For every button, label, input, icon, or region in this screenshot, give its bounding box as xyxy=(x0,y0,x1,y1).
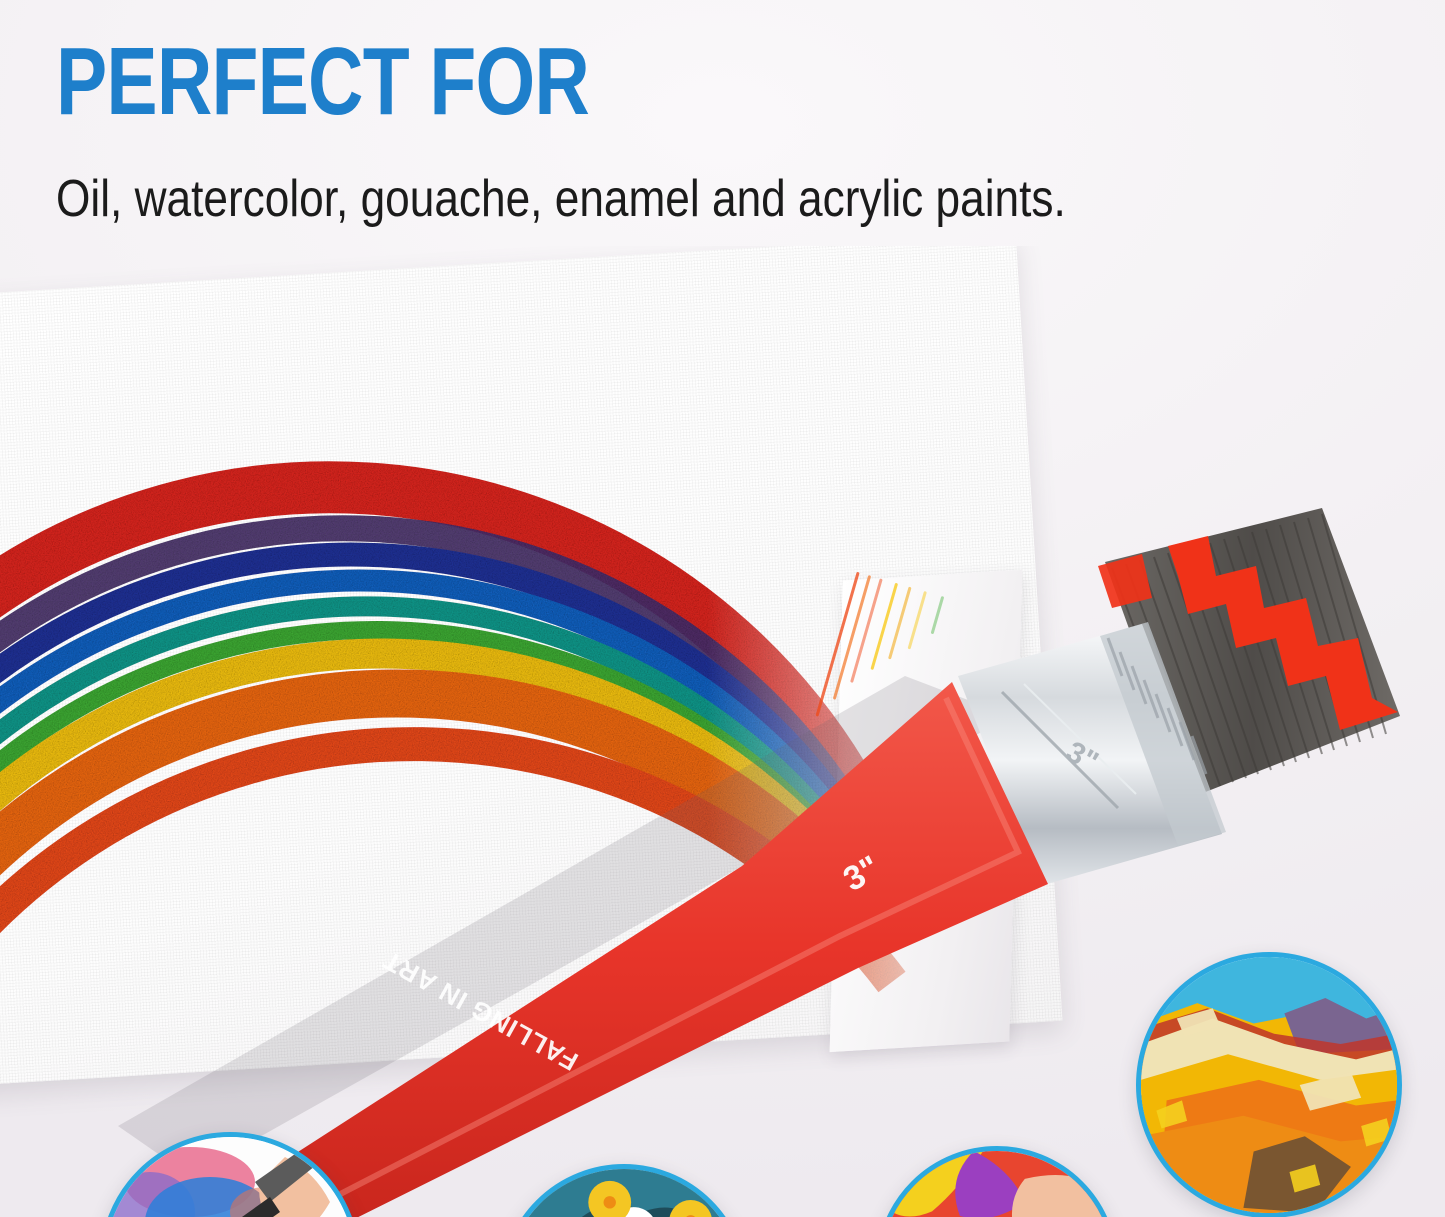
callout-gouache-image xyxy=(500,1164,748,1217)
rainbow-bands xyxy=(0,487,892,1217)
page-subtitle: Oil, watercolor, gouache, enamel and acr… xyxy=(56,172,1066,227)
callout-acrylic-image xyxy=(876,1146,1118,1217)
callout-gouache[interactable]: Gouache xyxy=(500,1164,748,1217)
callout-watercolor[interactable]: Watercolor xyxy=(100,1132,360,1217)
callout-watercolor-image xyxy=(100,1132,360,1217)
rainbow-paint-stroke xyxy=(0,318,1000,1217)
page-title: PERFECT FOR xyxy=(56,34,589,130)
product-photo: 3" 3" FALLING IN ART xyxy=(0,246,1445,1217)
product-marketing-image: PERFECT FOR Oil, watercolor, gouache, en… xyxy=(0,0,1445,1217)
ferrule-size-marking: 3" xyxy=(1061,735,1104,779)
brush-bristles xyxy=(1098,508,1400,798)
callout-oil-image xyxy=(1136,952,1402,1217)
loaded-red-paint xyxy=(1168,536,1398,730)
callout-acrylic[interactable]: Acrylic xyxy=(876,1146,1118,1217)
callout-oil[interactable]: Oil xyxy=(1136,952,1402,1217)
